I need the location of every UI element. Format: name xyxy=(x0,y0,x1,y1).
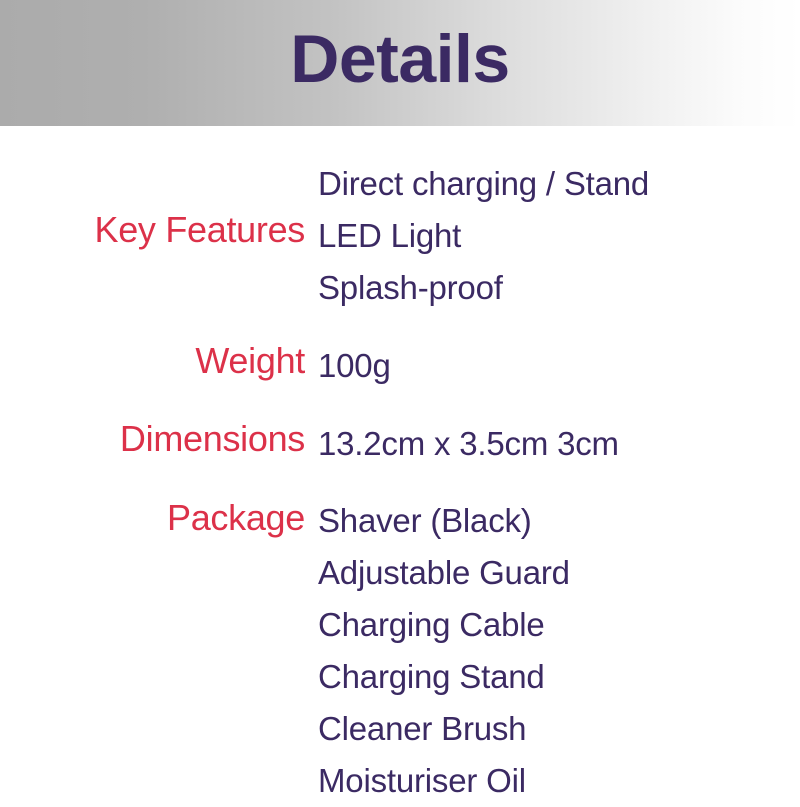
spec-values-dimensions: 13.2cm x 3.5cm 3cm xyxy=(305,418,800,470)
spec-value-line: Charging Cable xyxy=(318,599,800,651)
spec-values-key-features: Direct charging / Stand LED Light Splash… xyxy=(305,158,800,314)
spec-value-line: Charging Stand xyxy=(318,651,800,703)
spec-value-line: 100g xyxy=(318,340,800,392)
header-banner: Details xyxy=(0,0,800,126)
spec-row-key-features: Key Features Direct charging / Stand LED… xyxy=(0,158,800,314)
spec-values-package: Shaver (Black) Adjustable Guard Charging… xyxy=(305,495,800,807)
spec-value-line: Adjustable Guard xyxy=(318,547,800,599)
spec-label-dimensions: Dimensions xyxy=(0,418,305,460)
spec-value-line: 13.2cm x 3.5cm 3cm xyxy=(318,418,800,470)
spec-value-line: Shaver (Black) xyxy=(318,495,800,547)
spec-label-key-features: Key Features xyxy=(0,158,305,251)
spec-row-dimensions: Dimensions 13.2cm x 3.5cm 3cm xyxy=(0,418,800,470)
spec-value-line: LED Light xyxy=(318,210,800,262)
spec-label-package: Package xyxy=(0,495,305,539)
spec-label-weight: Weight xyxy=(0,340,305,382)
spec-value-line: Direct charging / Stand xyxy=(318,158,800,210)
spec-values-weight: 100g xyxy=(305,340,800,392)
spec-row-weight: Weight 100g xyxy=(0,340,800,392)
spec-value-line: Moisturiser Oil xyxy=(318,755,800,807)
specification-table: Key Features Direct charging / Stand LED… xyxy=(0,126,800,807)
page-title: Details xyxy=(0,0,800,126)
spec-value-line: Splash-proof xyxy=(318,262,800,314)
spec-row-package: Package Shaver (Black) Adjustable Guard … xyxy=(0,495,800,807)
spec-value-line: Cleaner Brush xyxy=(318,703,800,755)
